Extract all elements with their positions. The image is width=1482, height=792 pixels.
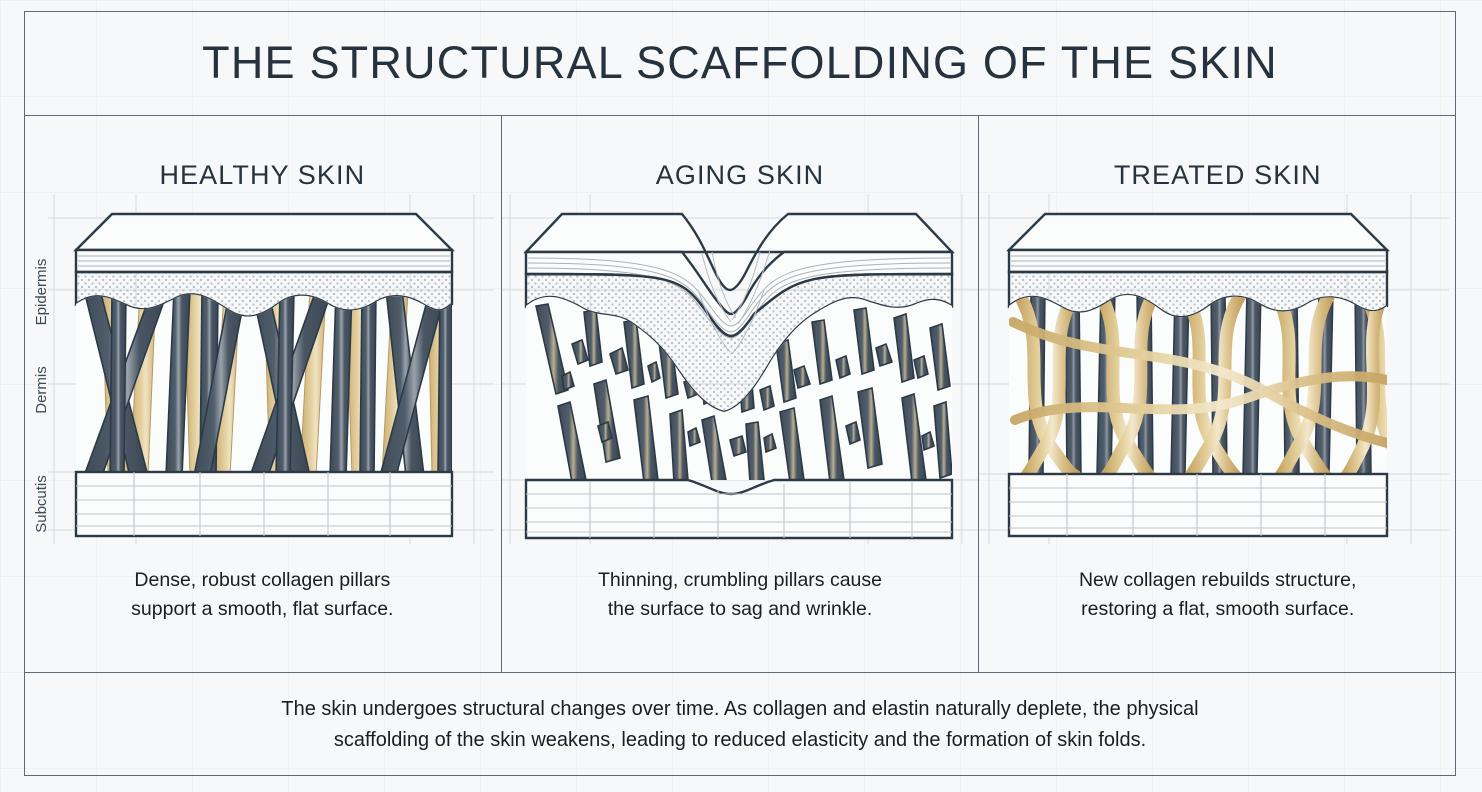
caption-line-2: support a smooth, flat surface. bbox=[52, 595, 473, 624]
caption-aging-skin: Thinning, crumbling pillars cause the su… bbox=[502, 566, 979, 624]
panel-title-aging: AGING SKIN bbox=[502, 160, 979, 191]
layer-label-dermis: Dermis bbox=[33, 366, 50, 414]
panel-healthy-skin[interactable]: HEALTHY SKIN bbox=[24, 116, 501, 672]
caption-healthy-skin: Dense, robust collagen pillars support a… bbox=[24, 566, 501, 624]
dermis-rebuilt-group bbox=[1009, 290, 1411, 478]
footer-line-1: The skin undergoes structural changes ov… bbox=[281, 694, 1198, 725]
panel-aging-skin[interactable]: AGING SKIN bbox=[501, 116, 979, 672]
layer-label-subcutis: Subcutis bbox=[33, 475, 50, 533]
panel-title-treated: TREATED SKIN bbox=[979, 160, 1456, 191]
epidermis-top-face bbox=[76, 214, 452, 250]
caption-line-2: restoring a flat, smooth surface. bbox=[1007, 595, 1428, 624]
diagram-healthy-skin: Epidermis Dermis Subcutis bbox=[24, 194, 501, 564]
page-title: THE STRUCTURAL SCAFFOLDING OF THE SKIN bbox=[202, 37, 1278, 89]
panel-title-healthy: HEALTHY SKIN bbox=[24, 160, 501, 191]
panel-treated-skin[interactable]: TREATED SKIN bbox=[978, 116, 1456, 672]
subcutis-layer bbox=[1009, 474, 1387, 536]
subcutis-layer bbox=[76, 472, 452, 536]
caption-line-1: Dense, robust collagen pillars bbox=[52, 566, 473, 595]
footer-bar: The skin undergoes structural changes ov… bbox=[24, 672, 1456, 776]
layer-label-epidermis: Epidermis bbox=[33, 259, 50, 326]
diagram-aging-skin bbox=[502, 194, 979, 564]
caption-line-2: the surface to sag and wrinkle. bbox=[530, 595, 951, 624]
caption-treated-skin: New collagen rebuilds structure, restori… bbox=[979, 566, 1456, 624]
diagram-treated-skin bbox=[979, 194, 1456, 564]
epidermis-top-face bbox=[1009, 214, 1387, 250]
infographic-poster: THE STRUCTURAL SCAFFOLDING OF THE SKIN H… bbox=[0, 0, 1482, 792]
caption-line-1: New collagen rebuilds structure, bbox=[1007, 566, 1428, 595]
subcutis-layer-sagging bbox=[526, 480, 952, 538]
footer-text: The skin undergoes structural changes ov… bbox=[281, 694, 1198, 756]
title-bar: THE STRUCTURAL SCAFFOLDING OF THE SKIN bbox=[24, 11, 1456, 116]
panels-row: HEALTHY SKIN bbox=[24, 116, 1456, 672]
dermis-fiber-group bbox=[76, 290, 452, 476]
footer-line-2: scaffolding of the skin weakens, leading… bbox=[281, 725, 1198, 756]
caption-line-1: Thinning, crumbling pillars cause bbox=[530, 566, 951, 595]
